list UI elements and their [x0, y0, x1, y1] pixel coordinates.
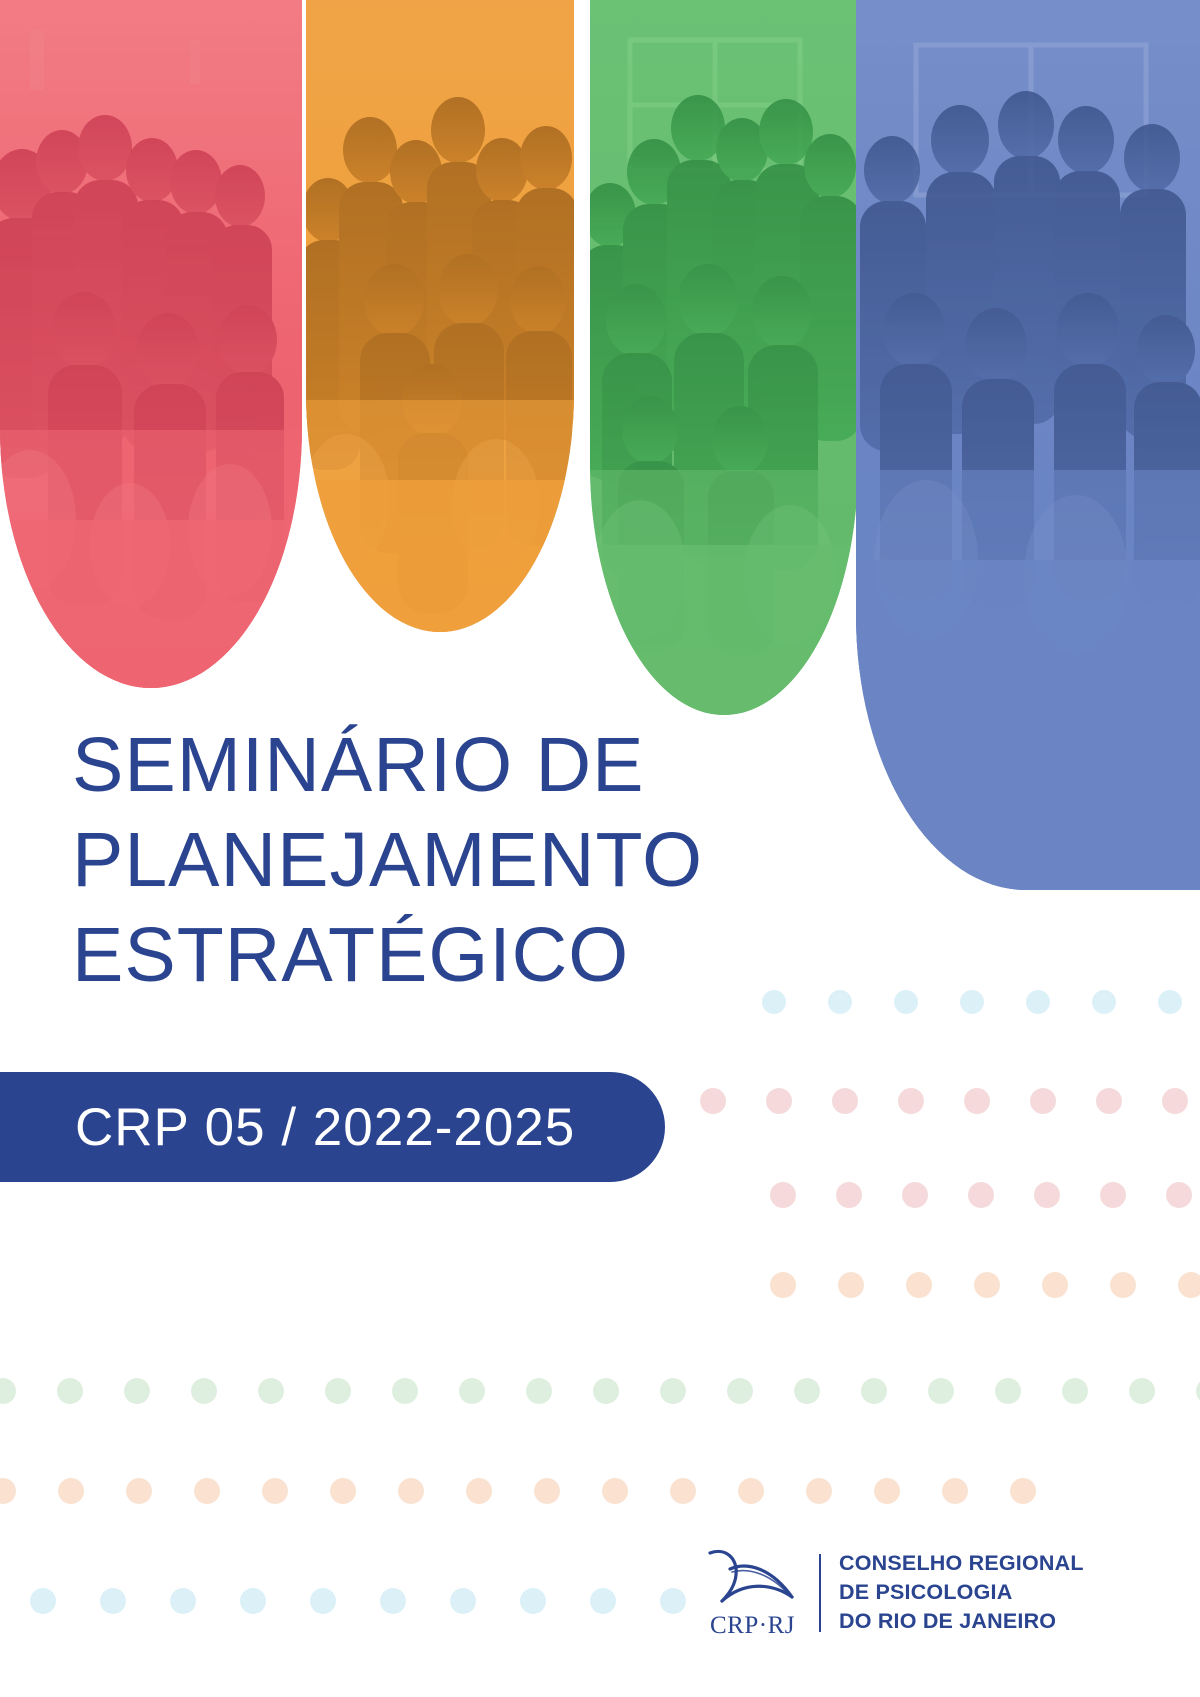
decorative-dot — [590, 1588, 616, 1614]
decorative-dot — [1100, 1182, 1126, 1208]
decorative-dot — [534, 1478, 560, 1504]
decorative-dot — [1092, 990, 1116, 1014]
decorative-dot — [1026, 990, 1050, 1014]
decorative-dot — [898, 1088, 924, 1114]
photo-panel-green-image — [590, 0, 858, 715]
decorative-dot — [170, 1588, 196, 1614]
decorative-dot — [593, 1378, 619, 1404]
crp-bird-icon: CRP·RJ — [700, 1545, 805, 1640]
decorative-dot — [0, 1378, 16, 1404]
decorative-dot — [906, 1272, 932, 1298]
decorative-dot — [974, 1272, 1000, 1298]
decorative-dot — [450, 1588, 476, 1614]
decorative-dot — [100, 1588, 126, 1614]
decorative-dot — [30, 1588, 56, 1614]
decorative-dot — [194, 1478, 220, 1504]
dot-row-pink-1 — [700, 1088, 1200, 1114]
crp-rj-wordmark: CRP·RJ — [700, 1612, 805, 1640]
decorative-dot — [770, 1272, 796, 1298]
decorative-dot — [1034, 1182, 1060, 1208]
dot-row-peach-2 — [0, 1478, 1036, 1504]
decorative-dot — [126, 1478, 152, 1504]
bird-mark-icon — [700, 1545, 805, 1615]
decorative-dot — [670, 1478, 696, 1504]
decorative-dot — [191, 1378, 217, 1404]
decorative-dot — [1062, 1378, 1088, 1404]
decorative-dot — [1162, 1088, 1188, 1114]
decorative-dot — [902, 1182, 928, 1208]
decorative-dot — [1096, 1088, 1122, 1114]
decorative-dot — [262, 1478, 288, 1504]
decorative-dot — [660, 1588, 686, 1614]
decorative-dot — [602, 1478, 628, 1504]
decorative-dot — [806, 1478, 832, 1504]
page-title-line-2: PLANEJAMENTO — [72, 813, 832, 908]
decorative-dot — [1110, 1272, 1136, 1298]
decorative-dot — [1178, 1272, 1200, 1298]
decorative-dot — [124, 1378, 150, 1404]
decorative-dot — [240, 1588, 266, 1614]
decorative-dot — [325, 1378, 351, 1404]
decorative-dot — [1042, 1272, 1068, 1298]
decorative-dot — [1158, 990, 1182, 1014]
decorative-dot — [58, 1478, 84, 1504]
decorative-dot — [0, 1478, 16, 1504]
decorative-dot — [995, 1378, 1021, 1404]
logo-org-name: CONSELHO REGIONAL DE PSICOLOGIA DO RIO D… — [839, 1549, 1084, 1636]
dot-row-lightblue-2 — [30, 1588, 686, 1614]
page-title-line-1: SEMINÁRIO DE — [72, 718, 832, 813]
decorative-dot — [392, 1378, 418, 1404]
photo-panel-red-image — [0, 0, 302, 688]
decorative-dot — [836, 1182, 862, 1208]
decorative-dot — [1166, 1182, 1192, 1208]
decorative-dot — [520, 1588, 546, 1614]
photo-panel-red — [0, 0, 302, 688]
crp-rj-logo: CRP·RJ CONSELHO REGIONAL DE PSICOLOGIA D… — [700, 1545, 1084, 1640]
logo-divider — [819, 1554, 821, 1632]
period-badge: CRP 05 / 2022-2025 — [0, 1072, 665, 1182]
photo-panel-blue — [856, 0, 1200, 890]
photo-panel-blue-image — [856, 0, 1200, 890]
decorative-dot — [766, 1088, 792, 1114]
decorative-dot — [57, 1378, 83, 1404]
decorative-dot — [960, 990, 984, 1014]
decorative-dot — [459, 1378, 485, 1404]
decorative-dot — [330, 1478, 356, 1504]
period-badge-label: CRP 05 / 2022-2025 — [75, 1097, 575, 1158]
decorative-dot — [258, 1378, 284, 1404]
photo-panel-orange-image — [306, 0, 574, 632]
decorative-dot — [660, 1378, 686, 1404]
photo-panel-green — [590, 0, 858, 715]
decorative-dot — [1196, 1378, 1200, 1404]
decorative-dot — [874, 1478, 900, 1504]
decorative-dot — [838, 1272, 864, 1298]
page-title-line-3: ESTRATÉGICO — [72, 908, 832, 1003]
photo-panel-orange — [306, 0, 574, 632]
logo-org-line-3: DO RIO DE JANEIRO — [839, 1607, 1084, 1636]
decorative-dot — [700, 1088, 726, 1114]
dot-row-peach-1 — [770, 1272, 1200, 1298]
decorative-dot — [1129, 1378, 1155, 1404]
cover-page: SEMINÁRIO DE PLANEJAMENTO ESTRATÉGICO CR… — [0, 0, 1200, 1697]
logo-org-line-2: DE PSICOLOGIA — [839, 1578, 1084, 1607]
decorative-dot — [832, 1088, 858, 1114]
decorative-dot — [380, 1588, 406, 1614]
page-title: SEMINÁRIO DE PLANEJAMENTO ESTRATÉGICO — [72, 718, 832, 1003]
decorative-dot — [727, 1378, 753, 1404]
decorative-dot — [466, 1478, 492, 1504]
decorative-dot — [964, 1088, 990, 1114]
decorative-dot — [310, 1588, 336, 1614]
decorative-dot — [1030, 1088, 1056, 1114]
decorative-dot — [1010, 1478, 1036, 1504]
decorative-dot — [770, 1182, 796, 1208]
decorative-dot — [861, 1378, 887, 1404]
decorative-dot — [398, 1478, 424, 1504]
decorative-dot — [738, 1478, 764, 1504]
decorative-dot — [526, 1378, 552, 1404]
decorative-dot — [942, 1478, 968, 1504]
logo-org-line-1: CONSELHO REGIONAL — [839, 1549, 1084, 1578]
decorative-dot — [894, 990, 918, 1014]
dot-row-mint-1 — [0, 1378, 1200, 1404]
decorative-dot — [928, 1378, 954, 1404]
decorative-dot — [968, 1182, 994, 1208]
dot-row-pink-2 — [770, 1182, 1200, 1208]
decorative-dot — [794, 1378, 820, 1404]
